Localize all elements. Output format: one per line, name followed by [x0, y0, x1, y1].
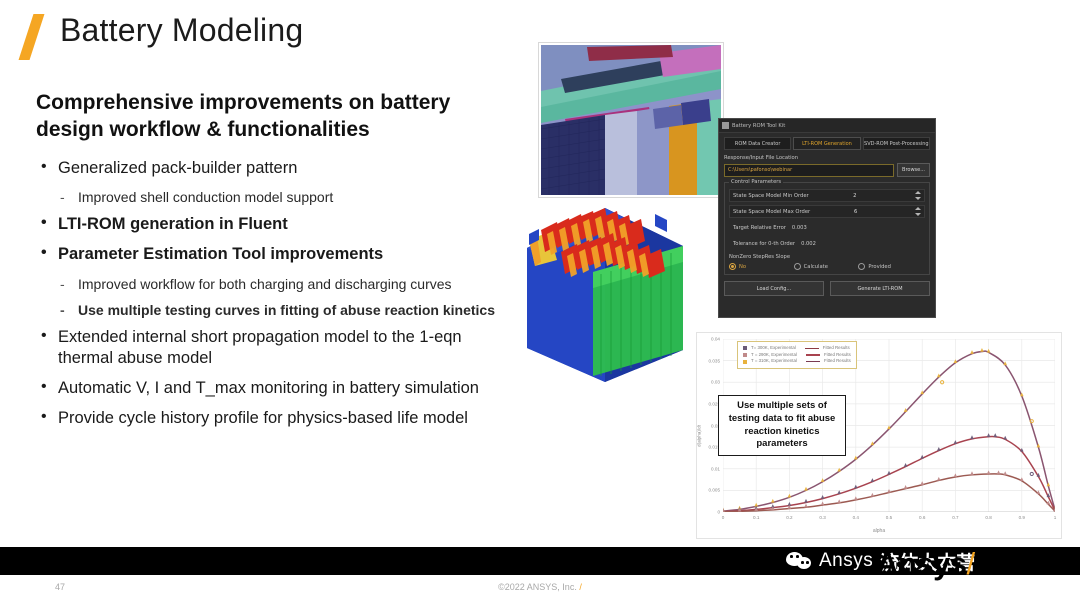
radio-label: Calculate — [804, 264, 828, 270]
parameter-row[interactable]: Target Relative Error0.003 — [729, 221, 925, 234]
copyright-slash: / — [579, 582, 582, 592]
bullet-item: Improved workflow for both charging and … — [36, 275, 506, 293]
dialog-titlebar: Battery ROM Tool Kit — [719, 119, 935, 133]
legend-label: T = 290K, Experimental — [751, 352, 797, 359]
chart-x-axis-title: alpha — [873, 528, 885, 534]
legend-marker-icon — [743, 360, 747, 364]
parameter-value[interactable]: 6 — [854, 209, 857, 215]
control-parameters-group: Control Parameters State Space Model Min… — [724, 182, 930, 275]
chart-x-tick-label: 1 — [1054, 515, 1057, 520]
title-accent-slash-icon — [26, 14, 52, 60]
battery-mesh-image — [539, 43, 723, 197]
battery-rom-tool-kit-dialog[interactable]: Battery ROM Tool Kit ROM Data CreatorLTI… — [718, 118, 936, 318]
bullet-item: Automatic V, I and T_max monitoring in b… — [36, 378, 506, 399]
watermark-brand: Ansys — [819, 550, 873, 572]
dialog-button-row: Load Config... Generate LTI-ROM — [724, 281, 930, 296]
parameter-row[interactable]: State Space Model Min Order2 — [729, 189, 925, 202]
legend-marker-icon — [743, 353, 747, 357]
bullet-item: Provide cycle history profile for physic… — [36, 408, 506, 429]
page-title: Battery Modeling — [60, 12, 303, 49]
radio-circle-icon[interactable] — [729, 263, 736, 270]
spinner-arrows-icon[interactable] — [915, 207, 921, 216]
chart-y-tick-label: 0 — [717, 510, 720, 515]
control-parameters-label: Control Parameters — [729, 179, 783, 185]
legend-line-icon — [806, 361, 820, 363]
radio-label: Provided — [868, 264, 891, 270]
chart-y-tick-label: 0.035 — [709, 358, 721, 363]
radio-circle-icon[interactable] — [858, 263, 865, 270]
dialog-tabs: ROM Data CreatorLTI-ROM GenerationSVD-RO… — [724, 137, 930, 150]
battery-pack-image — [505, 200, 705, 385]
file-location-input[interactable]: C:\Users\pafonso\webinar — [724, 164, 894, 177]
chart-x-tick-label: 0.1 — [753, 515, 759, 520]
chart-y-tick-label: 0.005 — [709, 488, 721, 493]
bullet-item: LTI-ROM generation in Fluent — [36, 214, 506, 235]
legend-entry: T = 310K, ExperimentalFitted Results — [743, 358, 851, 365]
lead-statement: Comprehensive improvements on battery de… — [36, 90, 516, 143]
parameter-row[interactable]: State Space Model Max Order6 — [729, 205, 925, 218]
chart-x-tick-label: 0.2 — [786, 515, 792, 520]
abuse-kinetics-chart: d(alpha)/dt 00.0050.010.0150.020.0250.03… — [696, 332, 1062, 539]
nonzero-stepres-label: NonZero StepRes Slope — [729, 254, 925, 260]
parameter-row[interactable]: Tolerance for 0-th Order0.002 — [729, 237, 925, 250]
parameter-label: Tolerance for 0-th Order — [733, 241, 795, 247]
chart-x-tick-label: 0 — [722, 515, 725, 520]
browse-button[interactable]: Browse... — [897, 163, 930, 177]
chart-y-tick-label: 0.04 — [711, 337, 720, 342]
file-location-label: Response/Input File Location — [724, 155, 930, 161]
dialog-tab[interactable]: SVD-ROM Post-Processing — [863, 137, 930, 150]
legend-fitted-label: Fitted Results — [823, 345, 850, 352]
parameter-value[interactable]: 0.003 — [792, 225, 807, 231]
copyright-label: ©2022 ANSYS, Inc. — [498, 582, 577, 592]
parameter-value[interactable]: 2 — [853, 193, 856, 199]
chart-x-tick-label: 0.9 — [1019, 515, 1025, 520]
ansys-logo-slash: / — [967, 546, 975, 581]
chart-x-tick-label: 0.8 — [985, 515, 991, 520]
legend-entry: T= 300K, ExperimentalFitted Results — [743, 345, 851, 352]
load-config-button[interactable]: Load Config... — [724, 281, 824, 296]
dialog-tab[interactable]: ROM Data Creator — [724, 137, 791, 150]
legend-label: T = 310K, Experimental — [751, 358, 797, 365]
chart-x-tick-label: 0.5 — [886, 515, 892, 520]
bullet-item: Generalized pack-builder pattern — [36, 158, 506, 179]
legend-label: T= 300K, Experimental — [751, 345, 796, 352]
radio-option[interactable]: Calculate — [794, 263, 859, 270]
legend-fitted-label: Fitted Results — [824, 352, 851, 359]
wechat-icon — [786, 551, 812, 571]
app-icon — [722, 122, 729, 129]
parameter-label: Target Relative Error — [733, 225, 786, 231]
dialog-body: ROM Data CreatorLTI-ROM GenerationSVD-RO… — [719, 133, 935, 300]
page-number: 47 — [55, 582, 65, 592]
bullet-item: Use multiple testing curves in fitting o… — [36, 301, 506, 319]
file-location-row: C:\Users\pafonso\webinar Browse... — [724, 163, 930, 177]
chart-y-tick-label: 0.03 — [711, 380, 720, 385]
legend-line-icon — [806, 354, 820, 356]
chart-annotation-callout: Use multiple sets of testing data to fit… — [718, 395, 846, 456]
bullet-item: Parameter Estimation Tool improvements — [36, 244, 506, 265]
parameter-label: State Space Model Min Order — [733, 193, 809, 199]
generate-rom-button[interactable]: Generate LTI-ROM — [830, 281, 930, 296]
ansys-logo: Ansys/ — [876, 546, 975, 582]
pack-render-svg — [505, 200, 705, 385]
chart-y-tick-label: 0.01 — [711, 466, 720, 471]
ansys-logo-text: Ansys — [876, 546, 967, 581]
bullet-item: Improved shell conduction model support — [36, 188, 506, 206]
radio-label: No — [739, 264, 746, 270]
parameter-rows: State Space Model Min Order2State Space … — [729, 189, 925, 250]
radio-option[interactable]: Provided — [858, 263, 923, 270]
chart-x-tick-label: 0.6 — [919, 515, 925, 520]
radio-circle-icon[interactable] — [794, 263, 801, 270]
copyright-text: ©2022 ANSYS, Inc. / — [498, 582, 582, 592]
dialog-title: Battery ROM Tool Kit — [732, 123, 785, 129]
bullet-item: Extended internal short propagation mode… — [36, 327, 506, 369]
chart-x-tick-label: 0.4 — [853, 515, 859, 520]
chart-x-tick-label: 0.3 — [819, 515, 825, 520]
parameter-value[interactable]: 0.002 — [801, 241, 816, 247]
legend-line-icon — [805, 348, 819, 350]
dialog-tab[interactable]: LTI-ROM Generation — [793, 137, 860, 150]
slide: Battery Modeling Comprehensive improveme… — [0, 0, 1080, 608]
chart-x-tick-label: 0.7 — [952, 515, 958, 520]
legend-marker-icon — [743, 346, 747, 350]
parameter-label: State Space Model Max Order — [733, 209, 810, 215]
radio-option[interactable]: No — [729, 263, 794, 270]
legend-fitted-label: Fitted Results — [824, 358, 851, 365]
bullet-list: Generalized pack-builder patternImproved… — [36, 158, 506, 438]
mesh-render-svg — [541, 45, 721, 195]
spinner-arrows-icon[interactable] — [915, 191, 921, 200]
legend-entry: T = 290K, ExperimentalFitted Results — [743, 352, 851, 359]
chart-y-axis-title: d(alpha)/dt — [697, 425, 702, 447]
nonzero-radio-group: NoCalculateProvided — [729, 263, 925, 270]
chart-legend: T= 300K, ExperimentalFitted ResultsT = 2… — [737, 341, 857, 369]
